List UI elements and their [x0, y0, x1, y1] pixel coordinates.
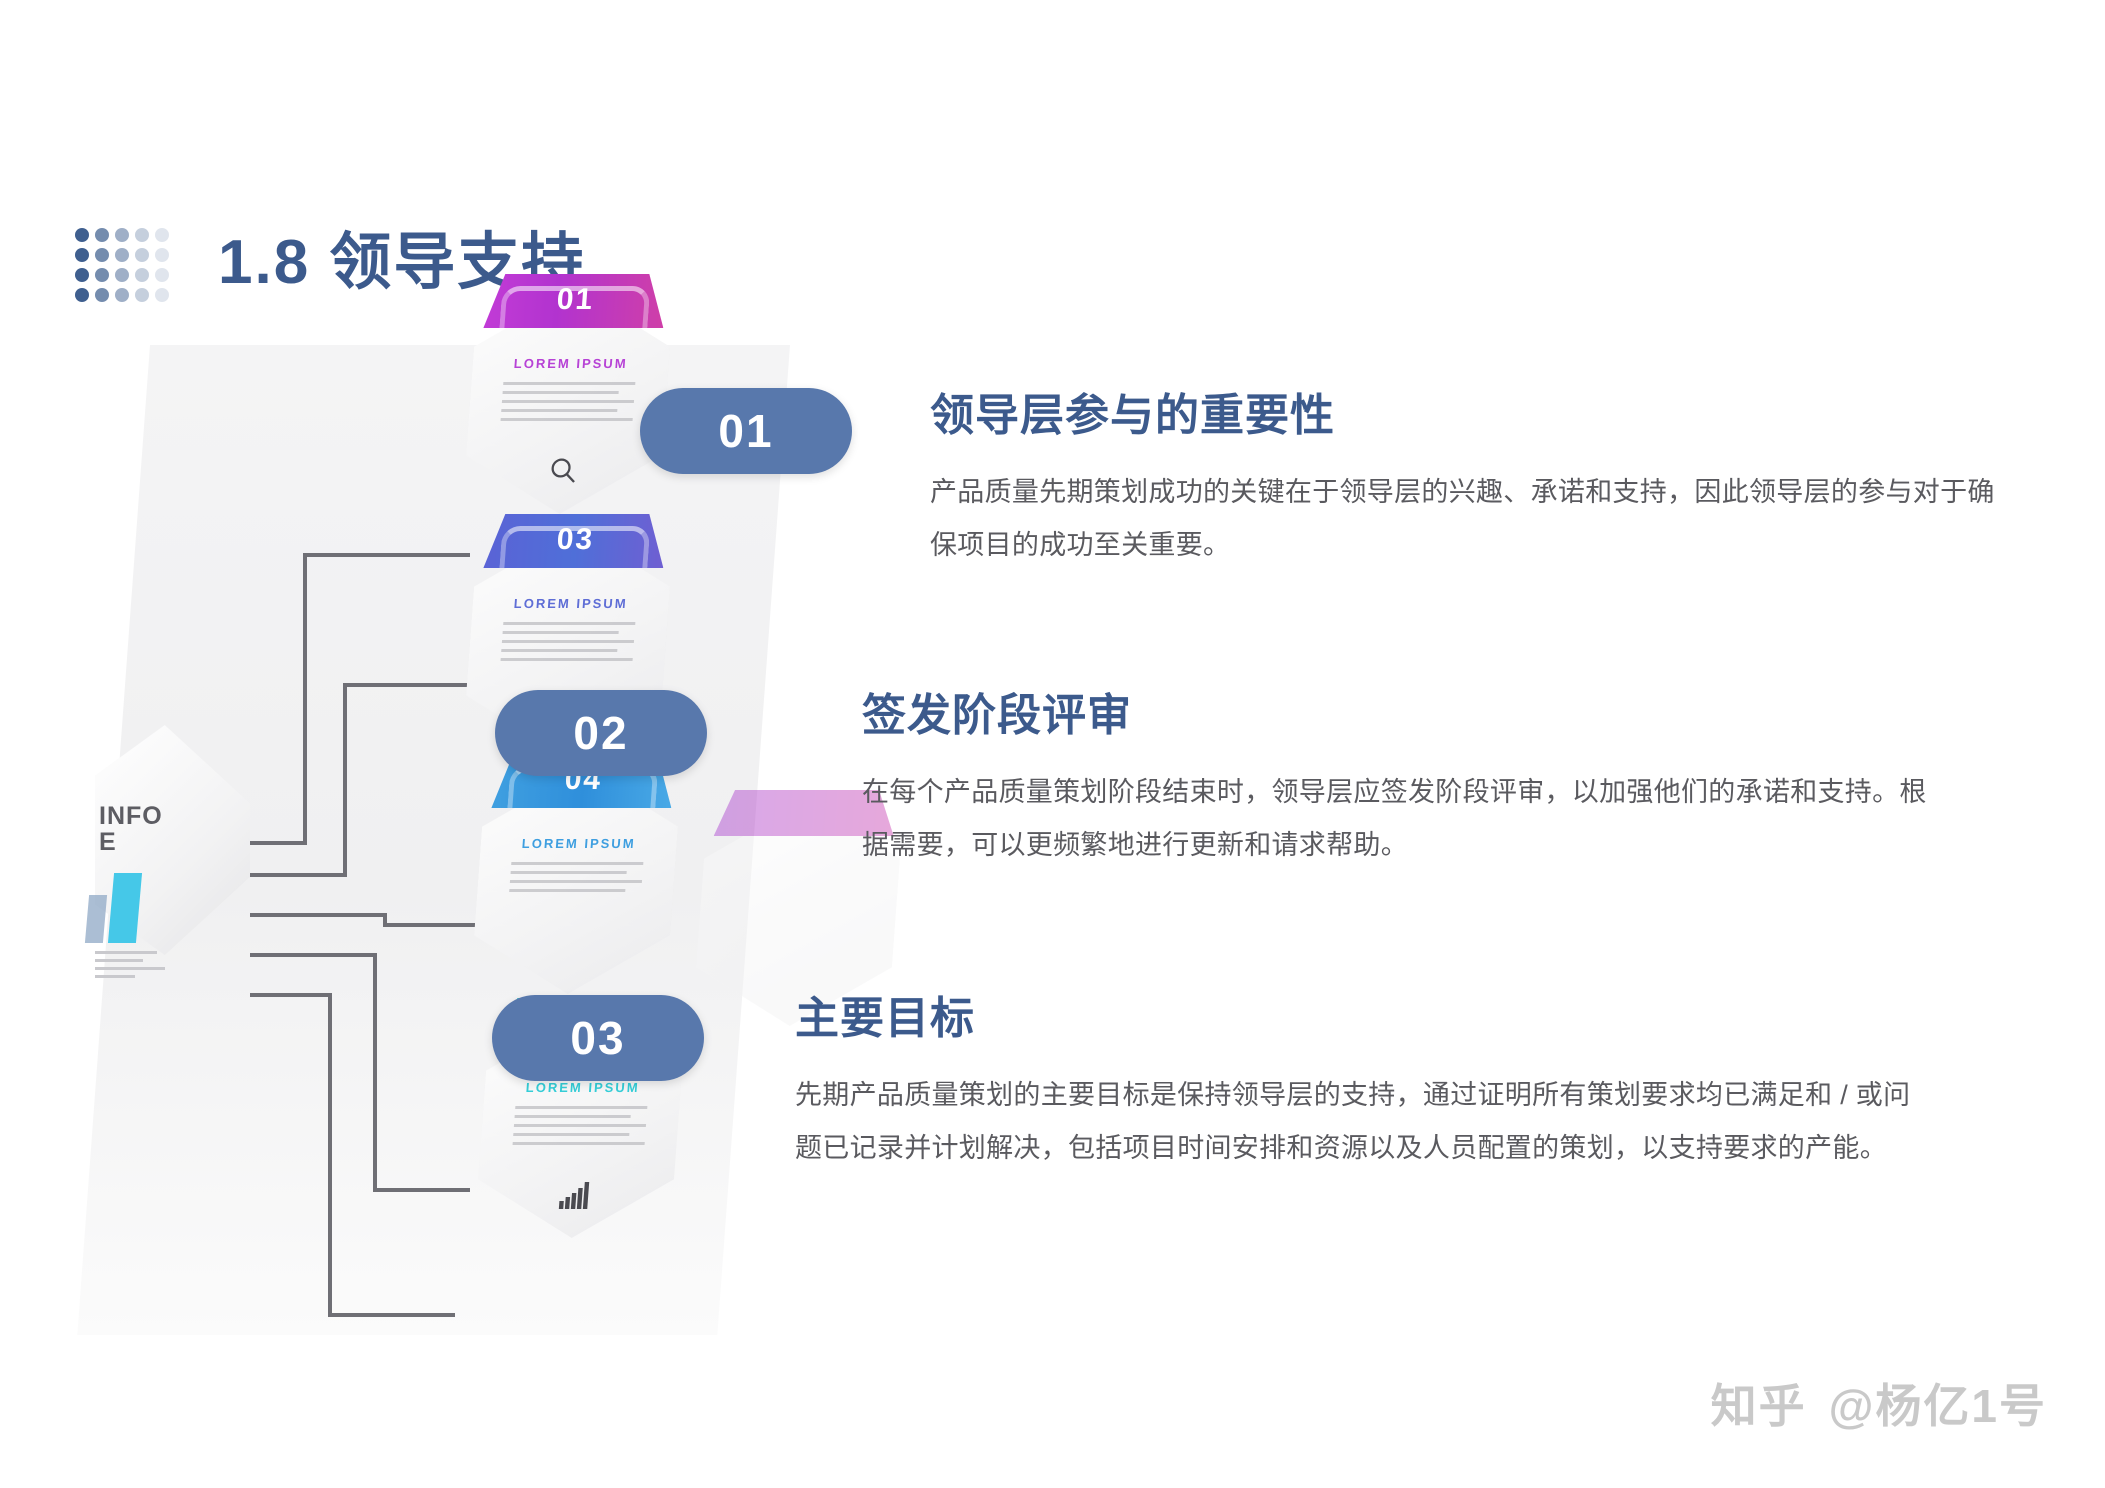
- hexagon-card-04: 04 LOREM IPSUM: [470, 768, 683, 994]
- dot: [75, 268, 89, 282]
- hexagon-subtitle: LOREM IPSUM: [472, 356, 669, 371]
- watermark-brand: 知乎: [1711, 1370, 1807, 1436]
- search-icon: [463, 454, 662, 492]
- section-2-body: 在每个产品质量策划阶段结束时，领导层应签发阶段评审，以加强他们的承诺和支持。根据…: [862, 766, 1952, 871]
- dot: [135, 248, 149, 262]
- dot: [115, 248, 129, 262]
- content-section-2: 签发阶段评审 在每个产品质量策划阶段结束时，领导层应签发阶段评审，以加强他们的承…: [862, 692, 1952, 872]
- dot: [95, 268, 109, 282]
- info-label-line2: E: [99, 829, 163, 855]
- bar-chart-icon: [475, 1180, 674, 1216]
- hexagon-text-lines: [509, 862, 644, 898]
- dot: [115, 288, 129, 302]
- dot: [75, 228, 89, 242]
- hexagon-subtitle: LOREM IPSUM: [472, 596, 669, 611]
- hexagon-cap: 01: [483, 274, 667, 328]
- hexagon-text-lines: [512, 1106, 647, 1151]
- dot: [135, 228, 149, 242]
- infographic-graphic: INFO E 01 LOREM IPSUM: [0, 330, 900, 1360]
- hexagon-number: 01: [484, 283, 666, 317]
- dot: [75, 248, 89, 262]
- dot: [95, 288, 109, 302]
- section-3-body: 先期产品质量策划的主要目标是保持领导层的支持，通过证明所有策划要求均已满足和 /…: [795, 1069, 1915, 1174]
- info-label-line1: INFO: [99, 803, 163, 829]
- dot: [155, 228, 169, 242]
- hexagon-number: 03: [484, 523, 666, 557]
- hexagon-text-lines: [500, 382, 635, 427]
- number-badge-01[interactable]: 01: [640, 388, 852, 474]
- hexagon-text-lines: [500, 622, 635, 667]
- watermark: 知乎 @杨亿1号: [1711, 1370, 2047, 1436]
- dot: [135, 288, 149, 302]
- section-1-body: 产品质量先期策划成功的关键在于领导层的兴趣、承诺和支持，因此领导层的参与对于确保…: [930, 466, 2010, 571]
- section-2-heading: 签发阶段评审: [862, 692, 1952, 740]
- content-section-3: 主要目标 先期产品质量策划的主要目标是保持领导层的支持，通过证明所有策划要求均已…: [795, 995, 1915, 1175]
- number-badge-03[interactable]: 03: [492, 995, 704, 1081]
- section-1-heading: 领导层参与的重要性: [930, 392, 2010, 440]
- dot: [75, 288, 89, 302]
- watermark-handle: @杨亿1号: [1829, 1370, 2047, 1436]
- content-section-1: 领导层参与的重要性 产品质量先期策划成功的关键在于领导层的兴趣、承诺和支持，因此…: [930, 392, 2010, 572]
- dot: [115, 268, 129, 282]
- info-bar-secondary: [85, 895, 107, 943]
- dot: [155, 268, 169, 282]
- dot-grid-decoration: [72, 225, 172, 305]
- dot: [155, 248, 169, 262]
- number-badge-02[interactable]: 02: [495, 690, 707, 776]
- hexagon-subtitle: LOREM IPSUM: [480, 836, 677, 851]
- dot: [135, 268, 149, 282]
- dot: [115, 228, 129, 242]
- hexagon-card-01: 01 LOREM IPSUM: [462, 288, 675, 514]
- section-3-heading: 主要目标: [795, 995, 1915, 1043]
- dot: [95, 228, 109, 242]
- dot: [155, 288, 169, 302]
- dot: [95, 248, 109, 262]
- center-info-hexagon: INFO E: [95, 725, 250, 955]
- hexagon-subtitle: LOREM IPSUM: [484, 1080, 681, 1095]
- hexagon-cap: 03: [483, 514, 667, 568]
- info-hexagon-label: INFO E: [99, 803, 163, 856]
- info-text-lines: [95, 951, 175, 983]
